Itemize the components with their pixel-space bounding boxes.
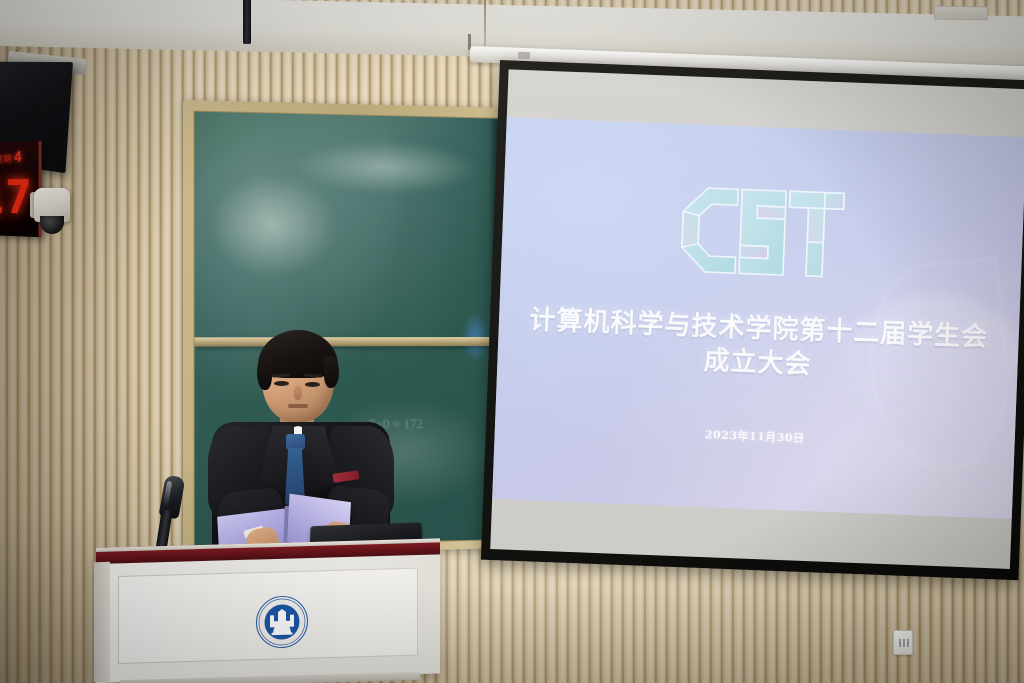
person-hair-side xyxy=(324,356,339,388)
person-eye xyxy=(305,382,320,387)
ceiling-vent xyxy=(934,6,988,21)
chalk-smudge xyxy=(295,140,477,194)
led-clock-label: 日 星期 xyxy=(0,151,12,165)
podium: · · · · · · · · · xyxy=(96,548,440,683)
presentation-slide: 计算机科学与技术学院第十二届学生会 成立大会 2023年11月30日 xyxy=(492,117,1024,518)
person-tie-knot xyxy=(286,434,305,450)
university-emblem-icon: · · · · · · · · · xyxy=(255,594,309,650)
led-clock-weekday: 4 xyxy=(14,150,22,166)
screen-surface: 计算机科学与技术学院第十二届学生会 成立大会 2023年11月30日 xyxy=(490,69,1024,569)
wall-outlet xyxy=(893,630,913,655)
ceiling-mount-rod xyxy=(243,0,251,44)
screen-pull-cord xyxy=(484,0,486,48)
led-clock-header: 日 星期 4 xyxy=(0,149,40,166)
person-hair-side xyxy=(257,356,272,390)
cst-logo-icon xyxy=(675,181,851,284)
screen-border: 计算机科学与技术学院第十二届学生会 成立大会 2023年11月30日 xyxy=(481,60,1024,580)
dome-security-camera xyxy=(32,188,72,240)
person-eye xyxy=(274,381,289,386)
person-nose xyxy=(294,386,302,400)
camera-dome-lens xyxy=(40,216,64,234)
outlet-slots xyxy=(899,639,909,647)
svg-text:· · · · ·: · · · · · xyxy=(278,600,286,603)
svg-text:· · · ·: · · · · xyxy=(279,644,285,647)
podium-side-panel xyxy=(94,562,110,682)
lecture-hall-photo: 日 星期 4 17 7×0 ≈ 172 xyxy=(0,0,1024,683)
person-mouth xyxy=(288,404,308,408)
housing-label-plate xyxy=(518,52,530,59)
projection-screen: 计算机科学与技术学院第十二届学生会 成立大会 2023年11月30日 xyxy=(481,60,1024,580)
